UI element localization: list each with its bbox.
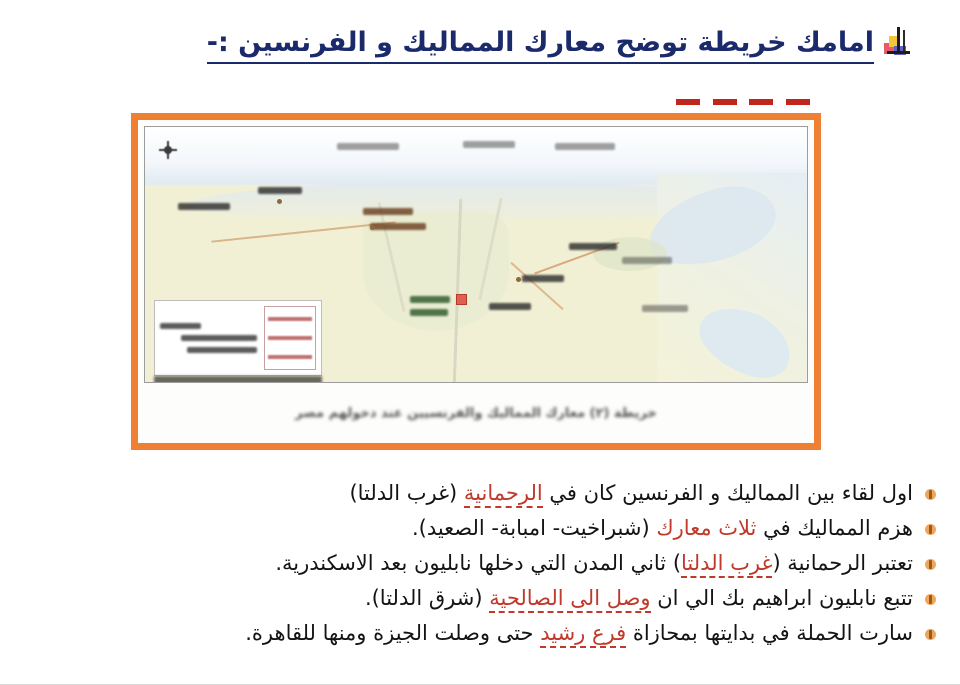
map-label-sea-east — [555, 143, 615, 150]
map-caption: خريطة (٢) معارك المماليك والفرنسيين عند … — [144, 383, 808, 443]
map-label-cairo — [489, 303, 531, 310]
legend-rows — [160, 306, 259, 370]
highlight-term: غرب الدلتا — [681, 551, 772, 578]
map-inner-container: خريطة (٢) معارك المماليك والفرنسيين عند … — [138, 120, 814, 443]
slide-title-row: امامك خريطة توضح معارك المماليك و الفرنس… — [46, 26, 914, 64]
highlight-term: وصل الى الصالحية — [489, 586, 650, 613]
list-item: تعتبر الرحمانية (غرب الدلتا) ثاني المدن … — [24, 548, 936, 579]
dash-mark — [713, 99, 737, 105]
map-label-giza — [410, 309, 448, 316]
map-marker-cairo — [456, 294, 467, 305]
map-label-sea-mid — [463, 141, 515, 148]
map-label-imbaba — [410, 296, 450, 303]
orange-oval-bullet-icon — [925, 594, 936, 605]
bullet-text: هزم المماليك في ثلاث معارك (شبراخيت- امب… — [412, 513, 913, 544]
page-title: امامك خريطة توضح معارك المماليك و الفرنس… — [207, 26, 874, 64]
map-dot-bilbeis — [516, 277, 521, 282]
highlight-term: الرحمانية — [464, 481, 543, 508]
map-label-sinai — [622, 257, 672, 264]
highlight-term: فرع رشيد — [540, 621, 626, 648]
list-item: اول لقاء بين المماليك و الفرنسين كان في … — [24, 478, 936, 509]
map-label-shubrakhit — [363, 208, 413, 215]
legend-row-label — [160, 323, 201, 329]
bullet-text: اول لقاء بين المماليك و الفرنسين كان في … — [349, 478, 913, 509]
decorative-dash-marks — [676, 98, 810, 106]
legend-row-label — [187, 347, 257, 353]
map-label-suez — [642, 305, 688, 312]
highlight-term: ثلاث معارك — [656, 516, 756, 540]
chart-bullet-icon — [884, 27, 914, 61]
orange-oval-bullet-icon — [925, 524, 936, 535]
map-image-frame: خريطة (٢) معارك المماليك والفرنسيين عند … — [131, 113, 821, 450]
map-label-rahmaniya — [370, 223, 426, 230]
list-item: تتبع نابليون ابراهيم بك الي ان وصل الى ا… — [24, 583, 936, 614]
orange-oval-bullet-icon — [925, 489, 936, 500]
legend-symbol-swatches — [264, 306, 316, 370]
map-label-alexandria — [178, 203, 230, 210]
legend-scale-bar — [154, 376, 322, 383]
map-label-bilbeis — [522, 275, 564, 282]
map-label-salhiya — [569, 243, 617, 250]
dash-mark — [749, 99, 773, 105]
bullet-text: تعتبر الرحمانية (غرب الدلتا) ثاني المدن … — [275, 548, 913, 579]
dash-mark — [676, 99, 700, 105]
map-label-sea-west — [337, 143, 399, 150]
list-item: سارت الحملة في بدايتها بمحازاة فرع رشيد … — [24, 618, 936, 649]
bullet-text: سارت الحملة في بدايتها بمحازاة فرع رشيد … — [245, 618, 913, 649]
dash-mark — [786, 99, 810, 105]
map-label-rashid — [258, 187, 302, 194]
compass-icon — [159, 141, 177, 159]
list-item: هزم المماليك في ثلاث معارك (شبراخيت- امب… — [24, 513, 936, 544]
bullet-list: اول لقاء بين المماليك و الفرنسين كان في … — [24, 478, 936, 653]
orange-oval-bullet-icon — [925, 559, 936, 570]
legend-row-label — [181, 335, 257, 341]
orange-oval-bullet-icon — [925, 629, 936, 640]
map-legend — [154, 300, 322, 376]
map-canvas — [144, 126, 808, 383]
bullet-text: تتبع نابليون ابراهيم بك الي ان وصل الى ا… — [365, 583, 913, 614]
